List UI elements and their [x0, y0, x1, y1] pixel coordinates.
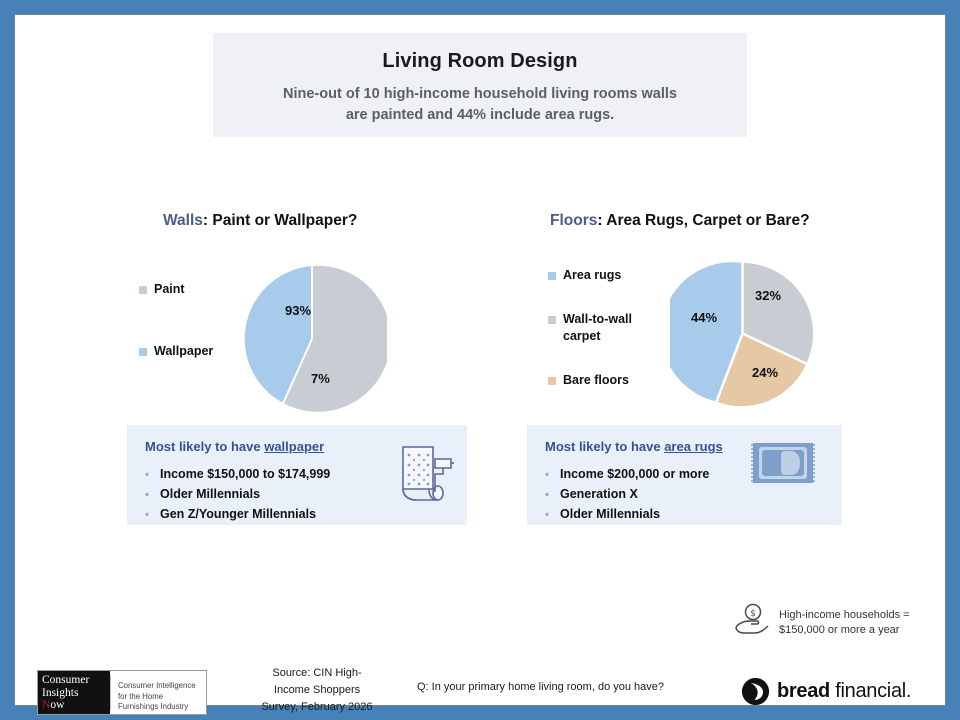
- callout-area-rugs-heading-prefix: Most likely to have: [545, 439, 664, 454]
- legend-label-paint: Paint: [154, 281, 185, 298]
- floors-chart-title: Floors: Area Rugs, Carpet or Bare?: [550, 212, 810, 230]
- walls-legend: Paint Wallpaper: [139, 281, 213, 405]
- high-income-note: $ High-income households = $150,000 or m…: [733, 603, 910, 642]
- cin-tagline-line2: for the Home: [118, 692, 206, 703]
- floors-title-rest: : Area Rugs, Carpet or Bare?: [597, 212, 809, 229]
- pie-label-area-rugs: 44%: [691, 310, 717, 325]
- list-item: Gen Z/Younger Millennials: [145, 505, 330, 525]
- list-item: Older Millennials: [145, 485, 330, 505]
- consumer-insights-now-logo: Consumer Insights Now Consumer Intellige…: [37, 670, 207, 715]
- callout-area-rugs-heading-keyword: area rugs: [664, 439, 723, 454]
- list-item: Income $200,000 or more: [545, 465, 709, 485]
- walls-pie-chart: [237, 264, 387, 414]
- callout-wallpaper-list: Income $150,000 to $174,999 Older Millen…: [145, 465, 330, 525]
- cin-logo-mark: Consumer Insights Now: [38, 671, 110, 714]
- legend-item-wallpaper: Wallpaper: [139, 343, 213, 405]
- financial-word: financial.: [830, 680, 911, 702]
- legend-label-bare-floors: Bare floors: [563, 372, 629, 389]
- svg-text:$: $: [750, 609, 756, 619]
- walls-chart-title: Walls: Paint or Wallpaper?: [163, 212, 357, 230]
- floors-pie-chart: [670, 261, 815, 406]
- cin-tagline-line1: Consumer Intelligence: [118, 681, 206, 692]
- high-income-note-text: High-income households = $150,000 or mor…: [779, 608, 910, 638]
- high-income-note-line1: High-income households =: [779, 609, 910, 621]
- survey-question-text: Q: In your primary home living room, do …: [417, 681, 664, 693]
- header-subtitle: Nine-out of 10 high-income household liv…: [213, 73, 747, 126]
- header-subtitle-line1: Nine-out of 10 high-income household liv…: [283, 86, 677, 102]
- cin-logo-line3: Now: [42, 699, 110, 712]
- cin-logo-line1: Consumer: [42, 674, 110, 687]
- legend-swatch-paint: [139, 286, 147, 294]
- legend-swatch-wallpaper: [139, 348, 147, 356]
- callout-wallpaper-heading: Most likely to have wallpaper: [145, 439, 324, 454]
- callout-area-rugs: Most likely to have area rugs Income $20…: [527, 425, 842, 525]
- callout-area-rugs-list: Income $200,000 or more Generation X Old…: [545, 465, 709, 525]
- floors-title-accent: Floors: [550, 212, 597, 229]
- slide-frame: Living Room Design Nine-out of 10 high-i…: [14, 14, 946, 706]
- high-income-note-line2: $150,000 or more a year: [779, 624, 899, 636]
- cin-logo-ow: ow: [50, 699, 64, 711]
- bread-word: bread: [777, 680, 830, 702]
- wallpaper-roll-icon: [395, 437, 455, 514]
- pie-label-bare-floors: 24%: [752, 365, 778, 380]
- cin-logo-tagline: Consumer Intelligence for the Home Furni…: [110, 675, 206, 710]
- pie-label-wall-to-wall-carpet: 32%: [755, 288, 781, 303]
- legend-label-wallpaper: Wallpaper: [154, 343, 213, 360]
- page-title: Living Room Design: [213, 33, 747, 73]
- hand-coin-icon: $: [733, 603, 771, 642]
- bread-financial-mark-icon: [742, 678, 769, 705]
- source-line1: Source: CIN High-: [272, 667, 361, 679]
- pie-label-wallpaper: 7%: [311, 371, 330, 386]
- source-line2: Income Shoppers: [274, 684, 360, 696]
- legend-swatch-area-rugs: [548, 272, 556, 280]
- walls-title-accent: Walls: [163, 212, 203, 229]
- legend-swatch-bare-floors: [548, 377, 556, 385]
- legend-label-area-rugs: Area rugs: [563, 267, 621, 284]
- header-subtitle-line2: are painted and 44% include area rugs.: [346, 107, 614, 123]
- callout-wallpaper-heading-keyword: wallpaper: [264, 439, 324, 454]
- cin-logo-line2: Insights: [42, 687, 110, 700]
- list-item: Income $150,000 to $174,999: [145, 465, 330, 485]
- callout-wallpaper-heading-prefix: Most likely to have: [145, 439, 264, 454]
- callout-wallpaper: Most likely to have wallpaper Income $15…: [127, 425, 467, 525]
- area-rug-icon: [749, 437, 817, 494]
- bread-financial-wordmark: bread financial.: [777, 680, 911, 703]
- legend-item-area-rugs: Area rugs: [548, 267, 660, 284]
- source-line3: Survey, February 2026: [261, 701, 372, 713]
- legend-label-wall-to-wall-carpet: Wall-to-wall carpet: [563, 311, 660, 345]
- pie-label-paint: 93%: [285, 303, 311, 318]
- legend-item-paint: Paint: [139, 281, 213, 343]
- list-item: Older Millennials: [545, 505, 709, 525]
- bread-financial-logo: bread financial.: [742, 678, 911, 705]
- cin-tagline-line3: Furnishings Industry: [118, 702, 206, 713]
- floors-legend: Area rugs Wall-to-wall carpet Bare floor…: [548, 267, 660, 416]
- legend-item-wall-to-wall-carpet: Wall-to-wall carpet: [548, 311, 660, 345]
- source-text: Source: CIN High- Income Shoppers Survey…: [237, 665, 397, 716]
- walls-title-rest: : Paint or Wallpaper?: [203, 212, 357, 229]
- list-item: Generation X: [545, 485, 709, 505]
- callout-area-rugs-heading: Most likely to have area rugs: [545, 439, 723, 454]
- header-banner: Living Room Design Nine-out of 10 high-i…: [213, 33, 747, 137]
- legend-item-bare-floors: Bare floors: [548, 372, 660, 389]
- legend-swatch-wall-to-wall-carpet: [548, 316, 556, 324]
